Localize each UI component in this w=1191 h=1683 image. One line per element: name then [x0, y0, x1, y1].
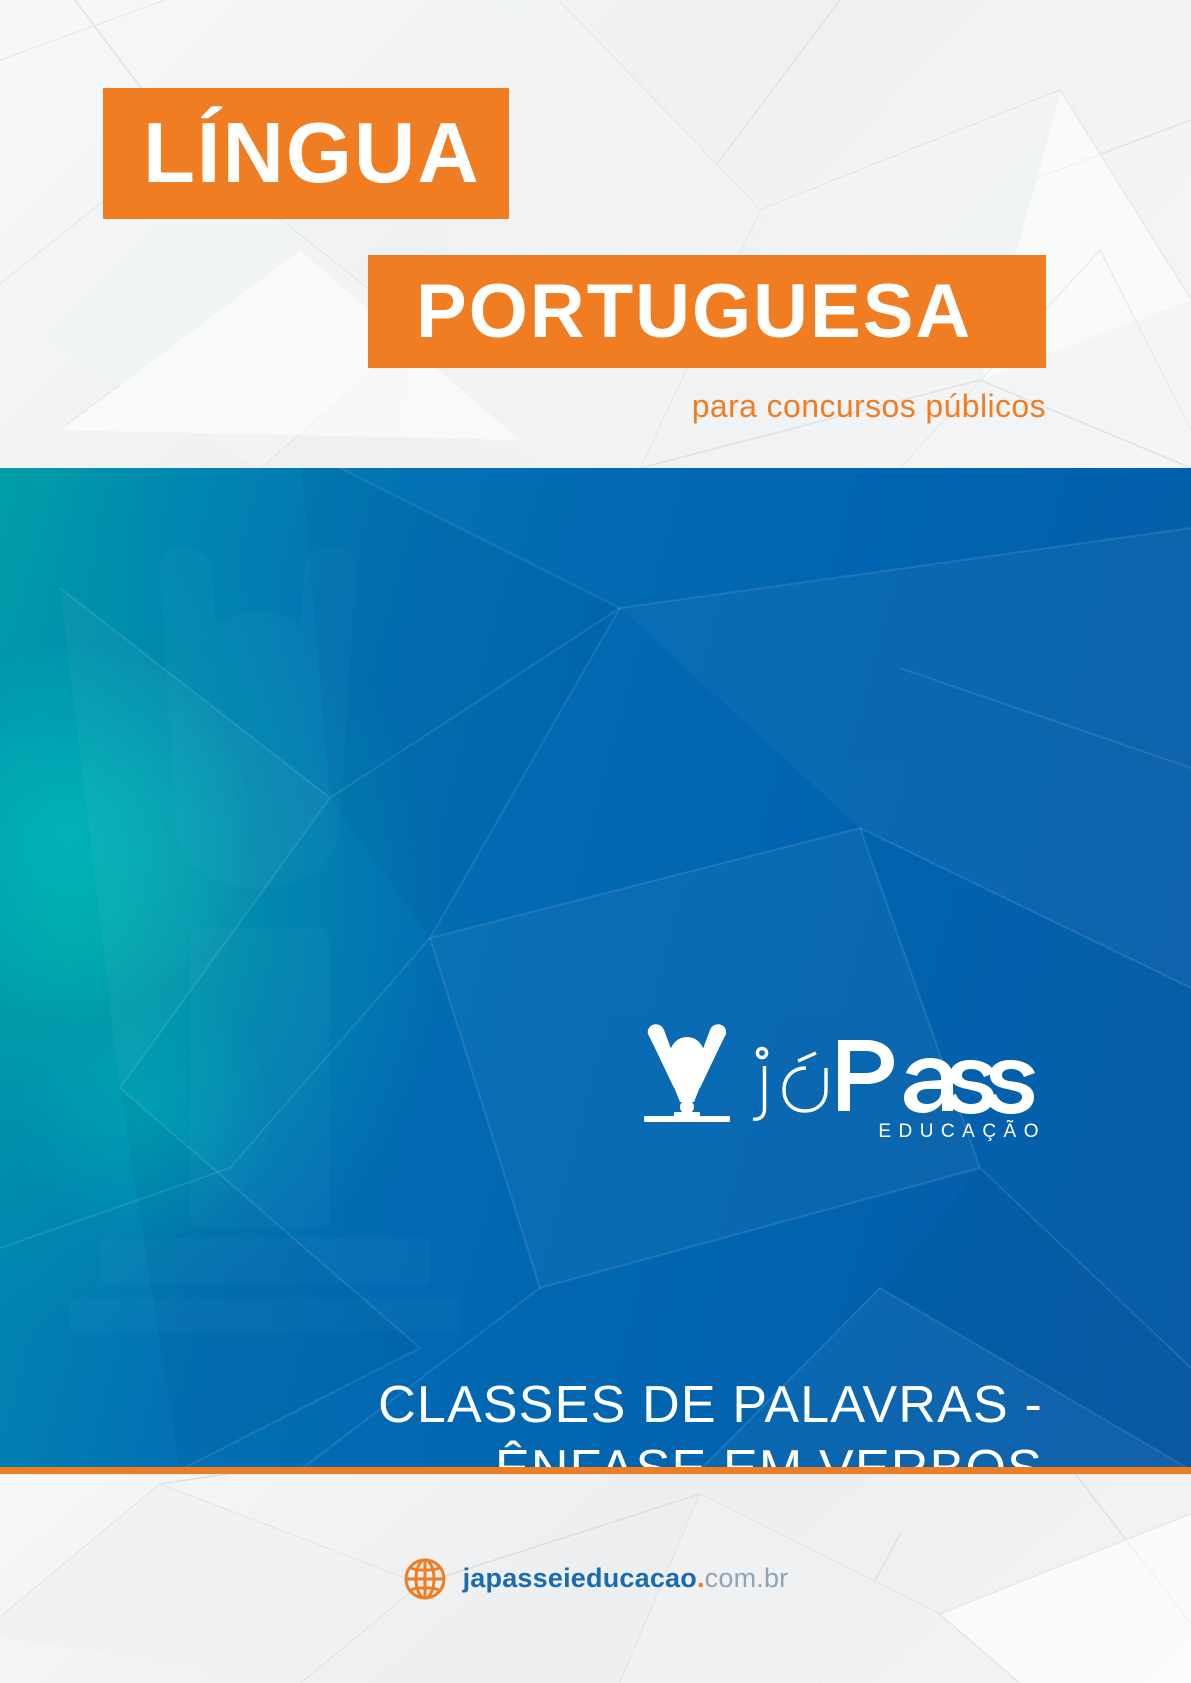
cover-footer-panel: japasseieducacao.com.br	[0, 1474, 1191, 1683]
cover-title: CLASSES DE PALAVRAS - ÊNFASE EM VERBOS	[0, 1373, 1191, 1470]
cover-header-panel: LÍNGUA PORTUGUESA para concursos público…	[0, 0, 1191, 468]
footer-website-url[interactable]: japasseieducacao.com.br	[463, 1563, 789, 1594]
title-portuguesa-text: PORTUGUESA	[416, 274, 972, 350]
person-raising-arms-icon	[644, 1024, 730, 1122]
title-chip-lingua: LÍNGUA	[103, 88, 509, 219]
japassei-logo-artwork	[630, 1016, 1050, 1124]
cover-body-panel: EDUCAÇÃO CLASSES DE PALAVRAS - ÊNFASE EM…	[0, 468, 1191, 1470]
book-cover: LÍNGUA PORTUGUESA para concursos público…	[0, 0, 1191, 1683]
logo-word-ja	[753, 1048, 826, 1119]
title-chip-portuguesa: PORTUGUESA	[368, 255, 1046, 368]
footer-site-tld: com.br	[705, 1563, 789, 1593]
cover-title-line-1: CLASSES DE PALAVRAS -	[0, 1373, 1043, 1437]
footer-site-name: japasseieducacao	[463, 1563, 697, 1593]
logo-word-passei	[838, 1040, 1035, 1114]
header-subtitle: para concursos públicos	[692, 388, 1046, 425]
globe-icon	[403, 1557, 447, 1601]
footer-site-dot: .	[697, 1563, 705, 1593]
brand-logo: EDUCAÇÃO	[630, 1016, 1050, 1141]
footer-content: japasseieducacao.com.br	[0, 1474, 1191, 1683]
body-background-pattern	[0, 468, 1191, 1470]
title-lingua-text: LÍNGUA	[143, 111, 481, 196]
cover-title-line-2: ÊNFASE EM VERBOS	[0, 1437, 1043, 1470]
orange-divider	[0, 1467, 1191, 1474]
logo-tagline: EDUCAÇÃO	[878, 1121, 1046, 1143]
